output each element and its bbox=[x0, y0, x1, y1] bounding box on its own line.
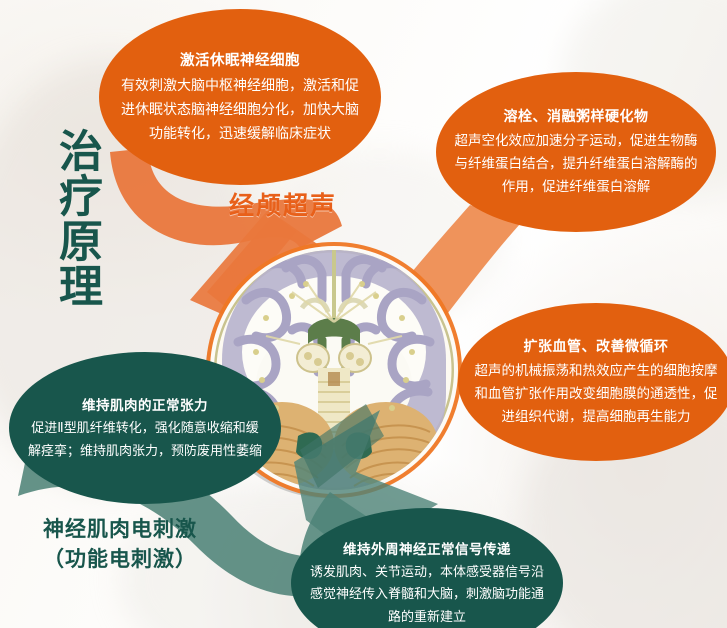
infographic-canvas: 激活休眠神经细胞 有效刺激大脑中枢神经细胞，激活和促进休眠状态脑神经细胞分化，加… bbox=[0, 0, 727, 628]
bubble-body: 超声的机械振荡和热效应产生的细胞按摩和血管扩张作用改变细胞膜的通透性，促进组织代… bbox=[474, 359, 718, 428]
page-title: 治疗原理 bbox=[32, 128, 102, 308]
bubble-body: 有效刺激大脑中枢神经细胞，激活和促进休眠状态脑神经细胞分化，加快大脑功能转化，迅… bbox=[115, 73, 365, 145]
bubble-activate-dormant-neurons[interactable]: 激活休眠神经细胞 有效刺激大脑中枢神经细胞，激活和促进休眠状态脑神经细胞分化，加… bbox=[99, 9, 381, 185]
bubble-body: 超声空化效应加速分子运动，促进生物酶与纤维蛋白结合，提升纤维蛋白溶解酶的作用，促… bbox=[452, 129, 700, 198]
nmes-line-1: 神经肌肉电刺激 bbox=[43, 518, 197, 541]
bubble-title: 溶栓、消融粥样硬化物 bbox=[452, 106, 700, 126]
bubble-thrombolysis[interactable]: 溶栓、消融粥样硬化物 超声空化效应加速分子运动，促进生物酶与纤维蛋白结合，提升纤… bbox=[436, 72, 716, 232]
bubble-vasodilation[interactable]: 扩张血管、改善微循环 超声的机械振荡和热效应产生的细胞按摩和血管扩张作用改变细胞… bbox=[458, 303, 727, 461]
bubble-body: 诱发肌肉、关节运动，本体感受器信号沿感觉神经传入脊髓和大脑，刺激脑功能通路的重新… bbox=[307, 561, 547, 628]
label-transcranial-ultrasound: 经颅超声 bbox=[229, 186, 337, 222]
bubble-title: 激活休眠神经细胞 bbox=[115, 49, 365, 70]
bubble-title: 维持肌肉的正常张力 bbox=[25, 394, 265, 414]
bubble-body: 促进Ⅱ型肌纤维转化，强化随意收缩和缓解痉挛；维持肌肉张力，预防废用性萎缩 bbox=[25, 417, 265, 462]
bubble-muscle-tone[interactable]: 维持肌肉的正常张力 促进Ⅱ型肌纤维转化，强化随意收缩和缓解痉挛；维持肌肉张力，预… bbox=[9, 352, 281, 504]
bubble-title: 扩张血管、改善微循环 bbox=[474, 336, 718, 356]
bubble-title: 维持外周神经正常信号传递 bbox=[307, 538, 547, 558]
label-neuromuscular-electrical-stimulation: 神经肌肉电刺激 （功能电刺激） bbox=[9, 515, 231, 575]
nmes-line-2: （功能电刺激） bbox=[9, 545, 231, 575]
